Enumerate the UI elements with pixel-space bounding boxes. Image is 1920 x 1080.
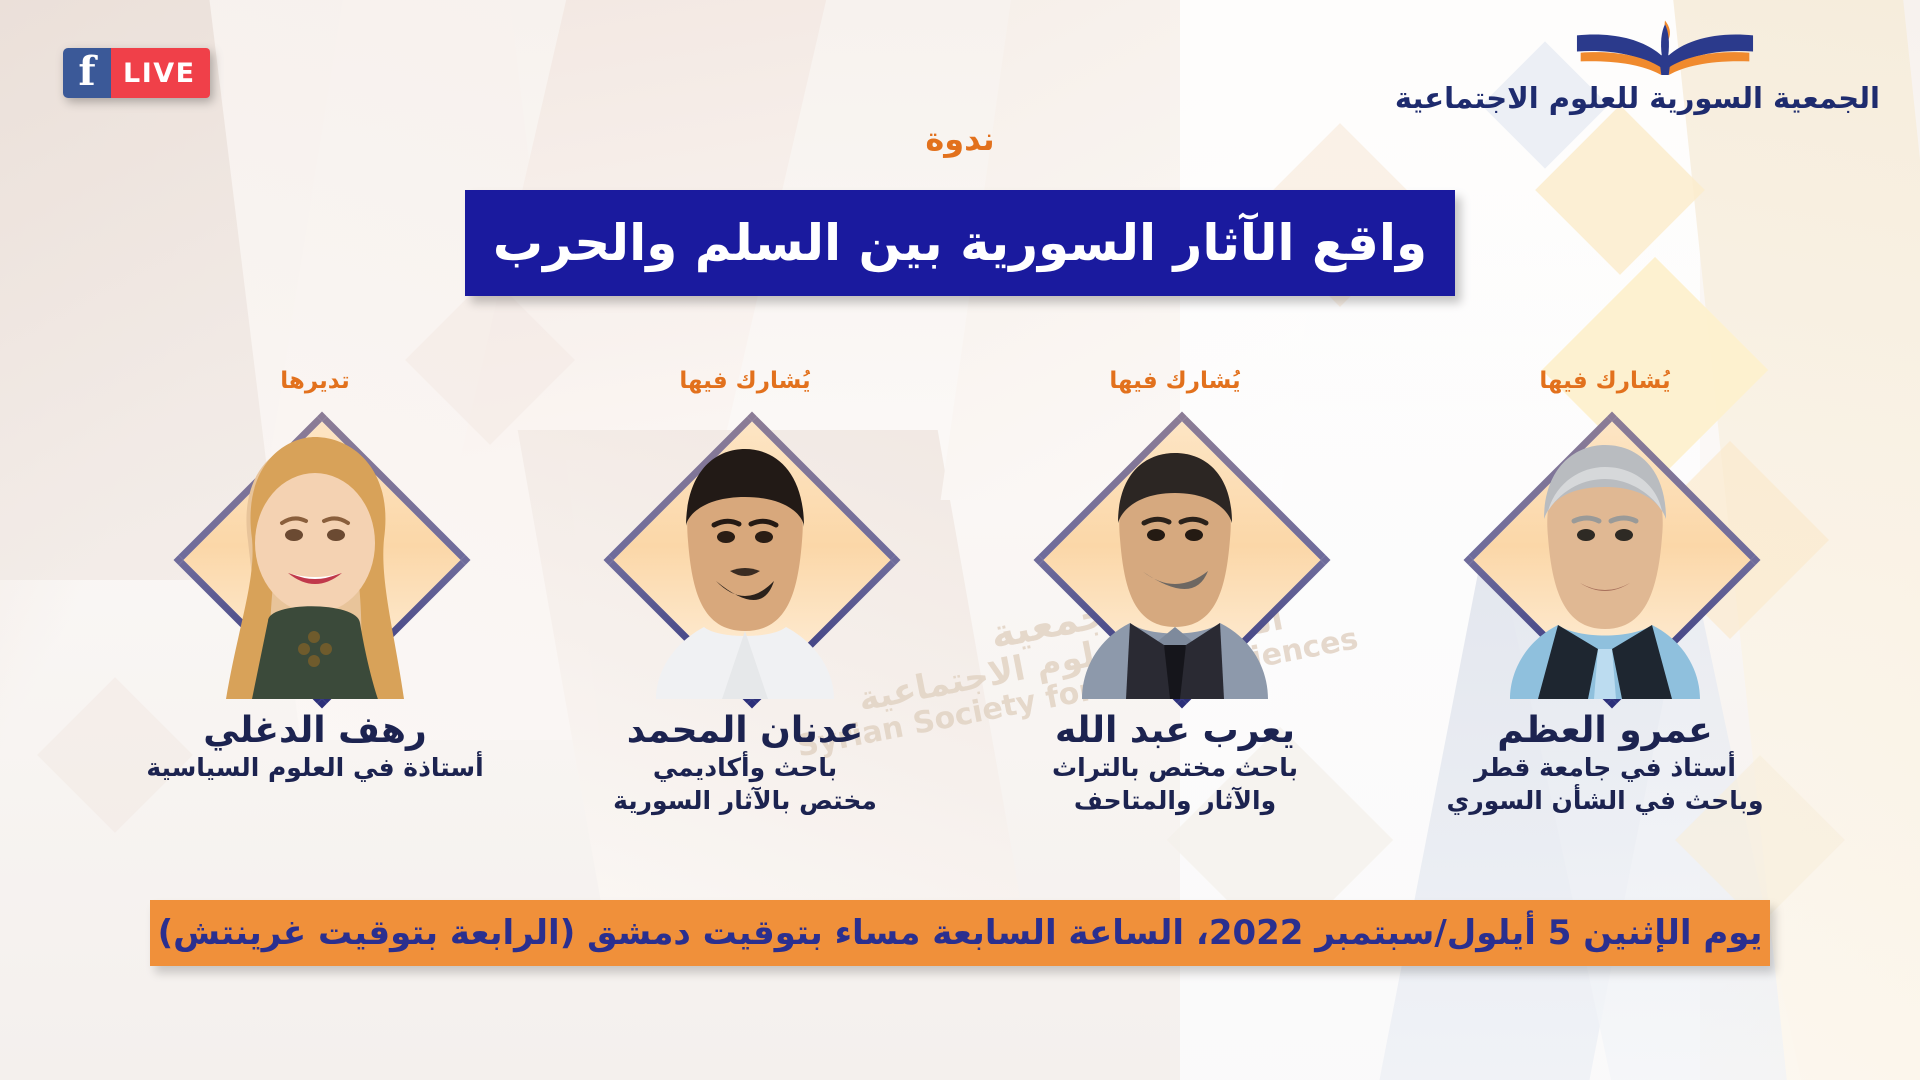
speaker-title-line: وباحث في الشأن السوري	[1390, 784, 1820, 818]
organization-logo: الجمعية السورية للعلوم الاجتماعية	[1450, 18, 1880, 113]
title-banner: واقع الآثار السورية بين السلم والحرب	[465, 190, 1455, 296]
speaker-name: عمرو العظم	[1390, 711, 1820, 751]
speaker-photo	[638, 431, 852, 699]
speaker-role: تديرها	[100, 370, 530, 393]
speaker-role: يُشارك فيها	[1390, 370, 1820, 393]
speaker-card[interactable]: يُشارك فيها	[1390, 370, 1820, 818]
speaker-title-line: باحث وأكاديمي	[530, 751, 960, 785]
speaker-photo	[208, 431, 422, 699]
speaker-card[interactable]: يُشارك فيها	[960, 370, 1390, 818]
speaker-photo	[1498, 431, 1712, 699]
speaker-title-line: باحث مختص بالتراث	[960, 751, 1390, 785]
event-datetime: يوم الإثنين 5 أيلول/سبتمبر 2022، الساعة …	[158, 913, 1763, 953]
speaker-role: يُشارك فيها	[530, 370, 960, 393]
open-book-icon	[1572, 18, 1758, 80]
event-kicker: ندوة	[0, 120, 1920, 158]
speaker-photo	[1068, 431, 1282, 699]
facebook-live-badge[interactable]: f LIVE	[63, 48, 210, 98]
datetime-banner: يوم الإثنين 5 أيلول/سبتمبر 2022، الساعة …	[150, 900, 1770, 966]
speakers-row: تديرها	[0, 370, 1920, 870]
speaker-portrait	[530, 405, 960, 705]
speaker-title-line: مختص بالآثار السورية	[530, 784, 960, 818]
speaker-portrait	[100, 405, 530, 705]
event-title: واقع الآثار السورية بين السلم والحرب	[493, 218, 1427, 268]
speaker-name: يعرب عبد الله	[960, 711, 1390, 751]
speaker-name: عدنان المحمد	[530, 711, 960, 751]
speaker-portrait	[960, 405, 1390, 705]
live-label: LIVE	[111, 48, 210, 98]
logo-text: الجمعية السورية للعلوم الاجتماعية	[1450, 84, 1880, 113]
speaker-role: يُشارك فيها	[960, 370, 1390, 393]
speaker-title-line: أستاذة في العلوم السياسية	[100, 751, 530, 785]
speaker-name: رهف الدغلي	[100, 711, 530, 751]
facebook-icon: f	[63, 48, 111, 98]
speaker-title-line: والآثار والمتاحف	[960, 784, 1390, 818]
speaker-portrait	[1390, 405, 1820, 705]
speaker-card[interactable]: تديرها	[100, 370, 530, 784]
speaker-card[interactable]: يُشارك فيها	[530, 370, 960, 818]
poster-canvas: الجمعية السورية للعلوم الاجتماعية Syrian…	[0, 0, 1920, 1080]
speaker-title-line: أستاذ في جامعة قطر	[1390, 751, 1820, 785]
